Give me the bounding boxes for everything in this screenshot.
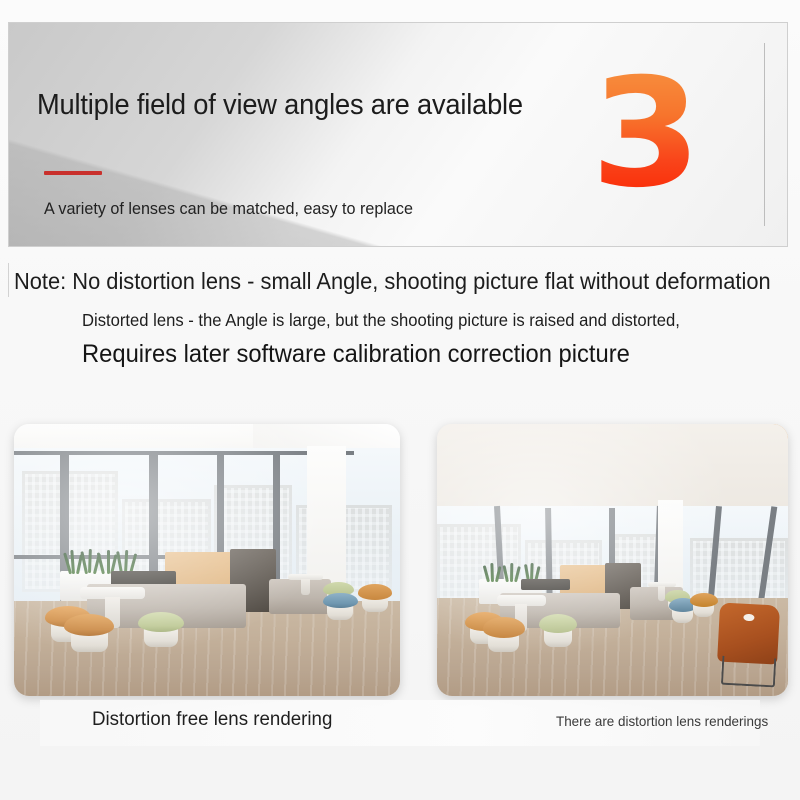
caption-distorted: There are distortion lens renderings [556, 713, 768, 729]
photo-card-distorted[interactable] [437, 424, 788, 696]
side-table [288, 574, 323, 596]
ottoman-green [539, 614, 578, 647]
sofa-backrest [521, 579, 570, 590]
title-accent-dash [44, 171, 102, 175]
note-left-rule [8, 263, 9, 297]
ottoman-orange-far [358, 584, 393, 611]
caption-distortion-free: Distortion free lens rendering [92, 708, 332, 731]
note-line-3: Requires later software calibration corr… [82, 340, 630, 369]
window-head [14, 451, 354, 455]
note-line-1: Note: No distortion lens - small Angle, … [14, 268, 771, 295]
scene-distorted [437, 424, 788, 696]
note-line-2: Distorted lens - the Angle is large, but… [82, 310, 680, 331]
ottoman-green [138, 612, 184, 647]
step-number: 3 [590, 59, 701, 209]
ottoman-blue [323, 593, 358, 620]
ottoman-orange-far [690, 593, 718, 617]
plants [64, 549, 137, 573]
ottoman-orange [483, 617, 525, 652]
ottoman-orange [64, 614, 114, 652]
page-title: Multiple field of view angles are availa… [37, 89, 523, 122]
scene-undistorted [14, 424, 400, 696]
header-vertical-rule [764, 43, 765, 226]
page-subtitle: A variety of lenses can be matched, easy… [44, 199, 413, 219]
photo-card-distortion-free[interactable] [14, 424, 400, 696]
orange-chair [716, 602, 780, 687]
header-panel: Multiple field of view angles are availa… [8, 22, 788, 247]
